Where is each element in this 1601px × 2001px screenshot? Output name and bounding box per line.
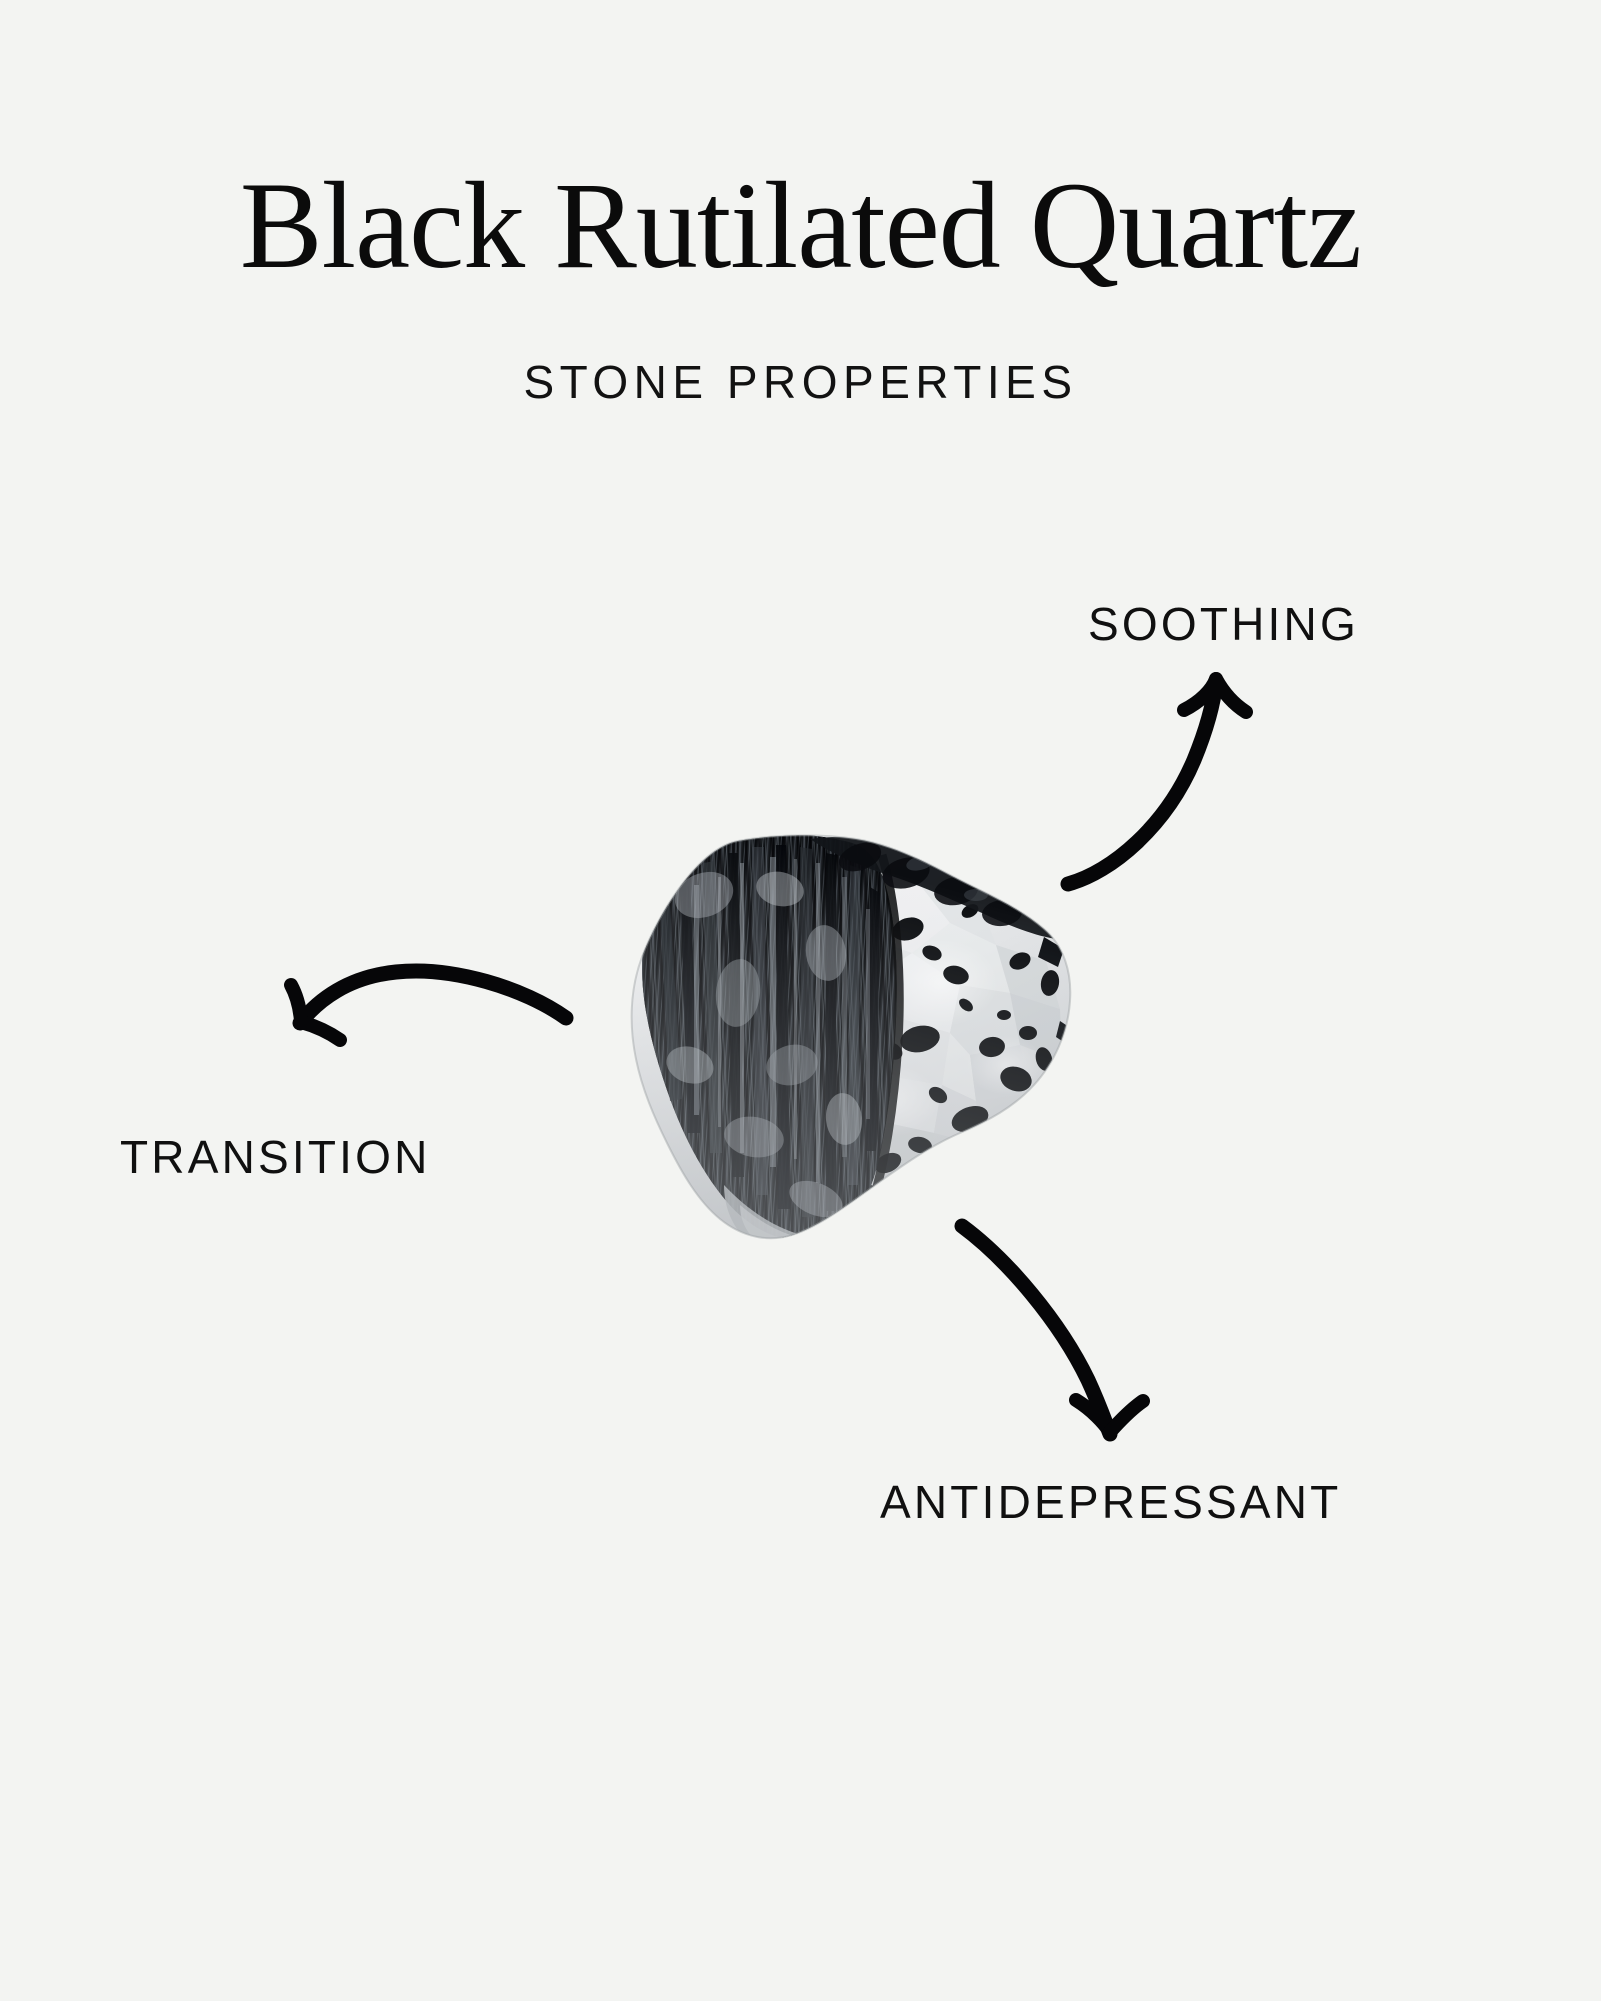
poster-canvas: Black Rutilated Quartz STONE PROPERTIES … [0,0,1601,2001]
property-label-soothing: SOOTHING [1088,597,1359,651]
property-label-antidepressant: ANTIDEPRESSANT [880,1475,1341,1529]
arrow-transition-icon [291,971,566,1040]
page-title: Black Rutilated Quartz [0,164,1601,288]
stone-specimen-image [620,833,1078,1267]
property-label-transition: TRANSITION [120,1130,431,1184]
arrow-soothing-icon [1068,679,1246,884]
page-subtitle: STONE PROPERTIES [0,355,1601,409]
stone-body [620,833,1078,1267]
stone-illustration [620,833,1078,1267]
